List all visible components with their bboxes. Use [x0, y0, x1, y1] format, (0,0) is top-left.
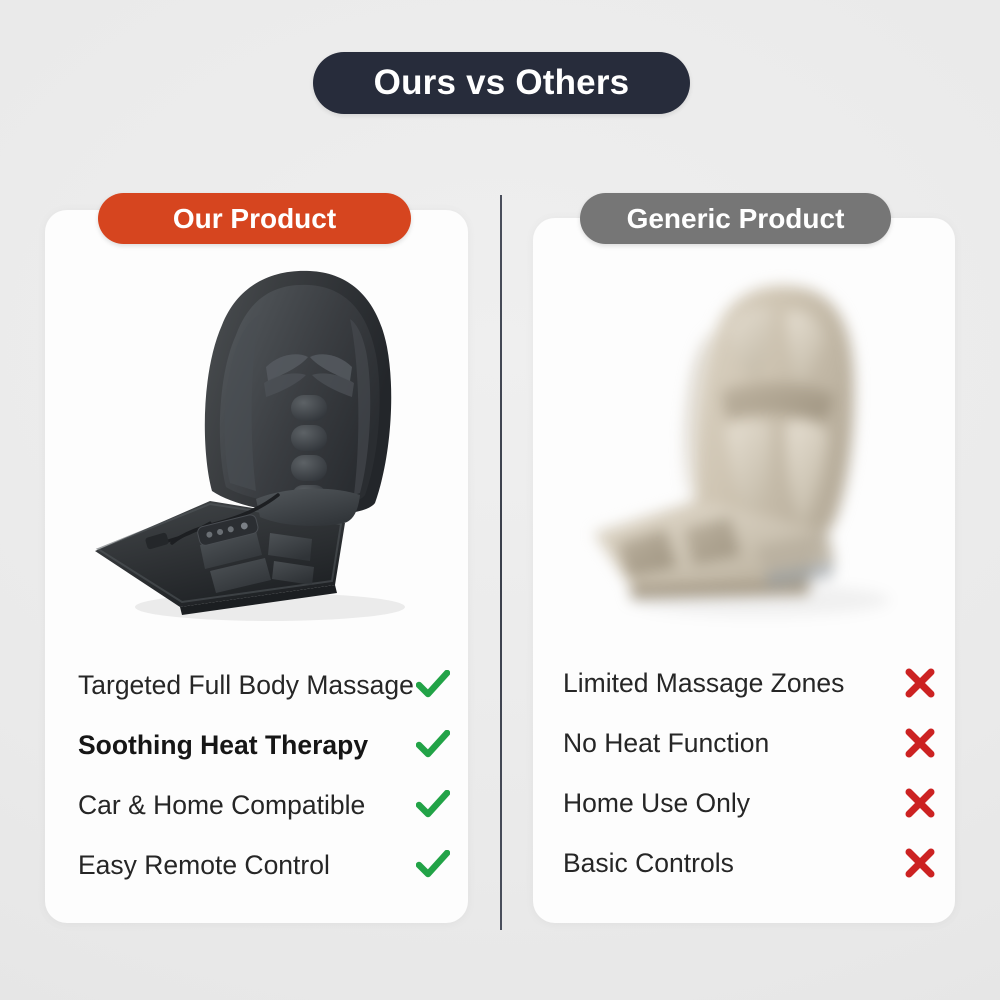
feature-label: No Heat Function [563, 728, 769, 759]
feature-row: No Heat Function [563, 713, 936, 773]
feature-row: Limited Massage Zones [563, 653, 936, 713]
feature-row: Easy Remote Control [78, 835, 450, 895]
feature-label: Car & Home Compatible [78, 790, 365, 821]
check-icon [416, 670, 450, 700]
cross-icon [904, 727, 936, 759]
column-badge-generic-label: Generic Product [627, 203, 845, 235]
feature-label: Targeted Full Body Massage [78, 670, 414, 701]
massage-seat-cushion-illustration [60, 255, 460, 640]
feature-label: Soothing Heat Therapy [78, 730, 368, 761]
column-badge-ours-label: Our Product [173, 203, 336, 235]
feature-row: Car & Home Compatible [78, 775, 450, 835]
feature-row: Basic Controls [563, 833, 936, 893]
cross-icon [904, 847, 936, 879]
page-title-badge: Ours vs Others [313, 52, 690, 114]
feature-row: Soothing Heat Therapy [78, 715, 450, 775]
feature-label: Limited Massage Zones [563, 668, 844, 699]
feature-row: Targeted Full Body Massage [78, 655, 450, 715]
page-title: Ours vs Others [374, 63, 630, 103]
product-image-generic [560, 255, 950, 640]
generic-massage-chair-illustration [560, 255, 950, 640]
feature-list-ours: Targeted Full Body Massage Soothing Heat… [78, 655, 450, 895]
feature-row: Home Use Only [563, 773, 936, 833]
cross-icon [904, 787, 936, 819]
check-icon [416, 850, 450, 880]
feature-label: Basic Controls [563, 848, 734, 879]
feature-label: Easy Remote Control [78, 850, 330, 881]
column-badge-generic: Generic Product [580, 193, 891, 244]
check-icon [416, 730, 450, 760]
column-divider [500, 195, 502, 930]
check-icon [416, 790, 450, 820]
feature-label: Home Use Only [563, 788, 750, 819]
product-image-ours [60, 255, 460, 640]
feature-list-generic: Limited Massage Zones No Heat Function H… [563, 653, 936, 893]
cross-icon [904, 667, 936, 699]
column-badge-ours: Our Product [98, 193, 411, 244]
